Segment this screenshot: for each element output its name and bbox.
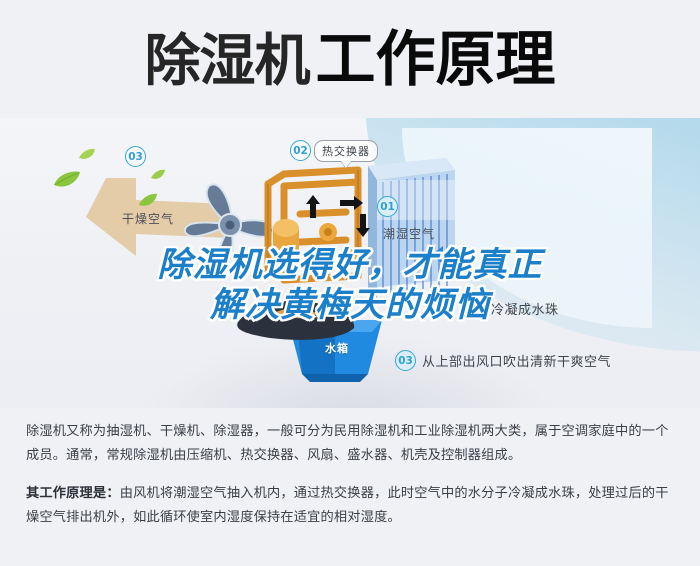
badge-03-dry-air: 03 xyxy=(125,146,146,167)
title-part-2: 工作原理 xyxy=(316,30,556,90)
leaf-icon xyxy=(150,166,166,185)
paragraph-2-lead: 其工作原理是： xyxy=(26,486,120,501)
paragraph-2-rest: 由风机将潮湿空气抽入机内，通过热交换器，此时空气中的水分子冷凝成水珠，处理过后的… xyxy=(26,486,669,525)
right-line-02: 02 发器冷凝成水珠 xyxy=(437,298,559,319)
paragraph-1: 除湿机又称为抽湿机、干燥机、除湿器，一般可分为民用除湿机和工业除湿机两大类，属于… xyxy=(26,420,678,468)
title-band: 除湿机 工作原理 xyxy=(0,0,700,120)
label-dry-air: 干燥空气 xyxy=(122,210,174,227)
dehumidifier-diagram: 水箱 03 干燥空气 02 热交换器 01 潮湿空气 02 发器冷凝成水珠 03… xyxy=(0,118,700,408)
paragraph-2: 其工作原理是：由风机将潮湿空气抽入机内，通过热交换器，此时空气中的水分子冷凝成水… xyxy=(26,482,678,530)
badge-01-humid-air: 01 xyxy=(377,196,398,217)
label-humid-air: 潮湿空气 xyxy=(383,225,435,242)
right-line-03: 03 从上部出风口吹出清新干爽空气 xyxy=(395,350,611,371)
leaf-icon xyxy=(52,170,82,194)
callout-heat-exchanger: 热交换器 xyxy=(314,140,378,162)
infographic-page: 除湿机 工作原理 xyxy=(0,0,700,566)
right-line-03-text: 从上部出风口吹出清新干爽空气 xyxy=(422,351,611,370)
badge-03-outlet: 03 xyxy=(395,350,416,371)
page-title: 除湿机 工作原理 xyxy=(145,30,556,90)
leaf-icon xyxy=(78,146,96,165)
title-part-1: 除湿机 xyxy=(145,34,310,90)
badge-02-heat-exchanger: 02 xyxy=(290,140,311,161)
right-line-02-text: 发器冷凝成水珠 xyxy=(464,299,559,318)
body-text: 除湿机又称为抽湿机、干燥机、除湿器，一般可分为民用除湿机和工业除湿机两大类，属于… xyxy=(26,420,678,544)
machine-base xyxy=(232,296,362,344)
